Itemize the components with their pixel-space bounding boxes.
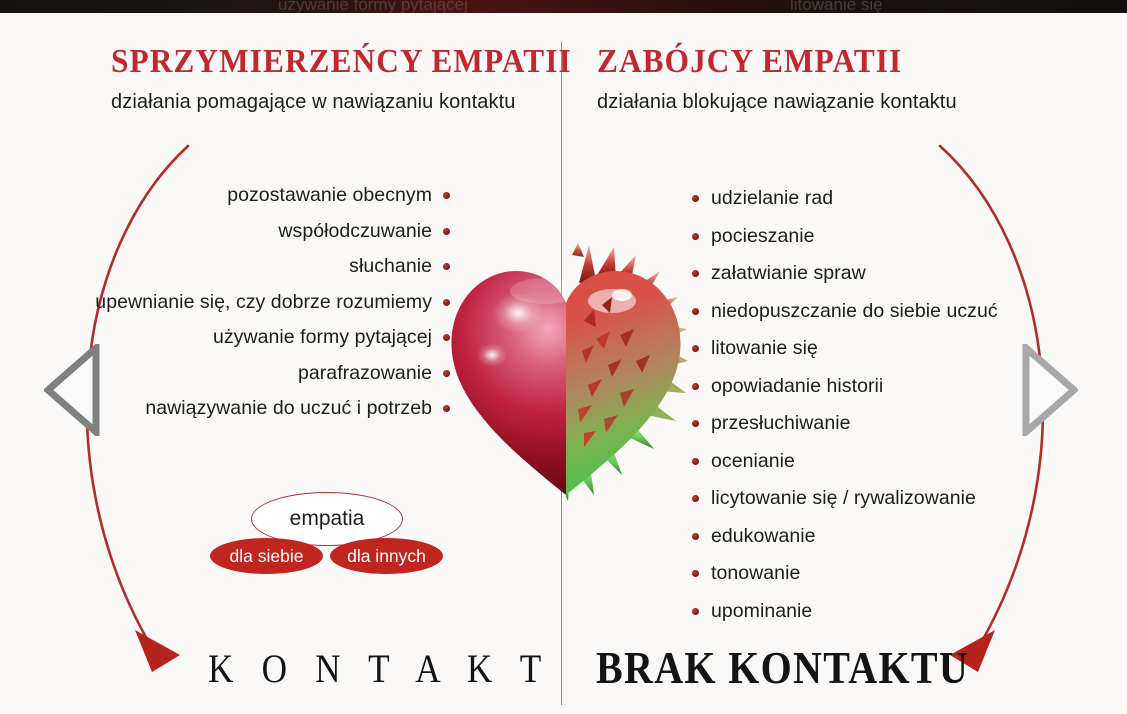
ghost-text-right: litowanie się	[790, 0, 883, 13]
bullet-icon	[443, 334, 450, 341]
bullet-icon	[692, 495, 699, 502]
list-item-label: przesłuchiwanie	[711, 412, 851, 435]
right-outcome-label: BRAK KONTAKTU	[596, 641, 969, 694]
split-heart-graphic	[444, 243, 688, 505]
list-item-label: licytowanie się / rywalizowanie	[711, 487, 976, 510]
list-item: tonowanie	[692, 555, 998, 593]
bullet-icon	[692, 308, 699, 315]
bullet-icon	[692, 233, 699, 240]
list-item: edukowanie	[692, 518, 998, 556]
empathy-killers-list: udzielanie rad pocieszanie załatwianie s…	[692, 180, 998, 630]
right-column-header: ZABÓJCY EMPATII działania blokujące nawi…	[597, 44, 957, 114]
bullet-icon	[692, 270, 699, 277]
bullet-icon	[692, 195, 699, 202]
list-item: załatwianie spraw	[692, 255, 998, 293]
list-item-label: tonowanie	[711, 562, 800, 585]
previous-slide-button[interactable]	[44, 344, 100, 436]
list-item-label: załatwianie spraw	[711, 262, 866, 285]
list-item: opowiadanie historii	[692, 368, 998, 406]
list-item: ocenianie	[692, 443, 998, 481]
list-item: udzielanie rad	[692, 180, 998, 218]
left-outcome-label: K O N T A K T	[208, 645, 551, 692]
list-item-label: upewnianie się, czy dobrze rozumiemy	[95, 291, 432, 314]
bullet-icon	[692, 458, 699, 465]
left-column-title: SPRZYMIERZEŃCY EMPATII	[111, 44, 572, 80]
list-item: upominanie	[692, 593, 998, 631]
left-flow-arrowhead	[135, 630, 180, 672]
list-item-label: ocenianie	[711, 450, 795, 473]
list-item-label: edukowanie	[711, 525, 816, 548]
list-item-label: niedopuszczanie do siebie uczuć	[711, 300, 998, 323]
list-item-label: pocieszanie	[711, 225, 815, 248]
bullet-icon	[443, 192, 450, 199]
bullet-icon	[692, 533, 699, 540]
list-item-label: współodczuwanie	[278, 220, 432, 243]
list-item-label: udzielanie rad	[711, 187, 833, 210]
left-column-header: SPRZYMIERZEŃCY EMPATII działania pomagaj…	[111, 44, 612, 114]
previous-slide-ghost-text: używanie formy pytającej litowanie się	[0, 0, 1127, 13]
list-item: przesłuchiwanie	[692, 405, 998, 443]
list-item: litowanie się	[692, 330, 998, 368]
list-item: niedopuszczanie do siebie uczuć	[692, 293, 998, 331]
bullet-icon	[443, 405, 450, 412]
list-item-label: używanie formy pytającej	[213, 326, 432, 349]
empathy-branch-self: dla siebie	[210, 538, 323, 574]
list-item: słuchanie	[0, 249, 450, 285]
list-item: pozostawanie obecnym	[0, 178, 450, 214]
empathy-branch-others: dla innych	[330, 538, 443, 574]
list-item-label: pozostawanie obecnym	[227, 184, 432, 207]
ghost-text-left: używanie formy pytającej	[278, 0, 468, 13]
empathy-main-label: empatia	[290, 507, 365, 531]
empathy-diagram: empatia dla siebie dla innych	[205, 492, 460, 582]
next-slide-button[interactable]	[1022, 344, 1078, 436]
slide-canvas: używanie formy pytającej litowanie się S…	[0, 0, 1127, 714]
list-item-label: opowiadanie historii	[711, 375, 883, 398]
list-item-label: litowanie się	[711, 337, 818, 360]
right-column-subtitle: działania blokujące nawiązanie kontaktu	[597, 91, 957, 114]
list-item: współodczuwanie	[0, 214, 450, 250]
bullet-icon	[692, 383, 699, 390]
bullet-icon	[443, 263, 450, 270]
list-item: pocieszanie	[692, 218, 998, 256]
bullet-icon	[443, 299, 450, 306]
list-item-label: nawiązywanie do uczuć i potrzeb	[145, 397, 432, 420]
bullet-icon	[443, 228, 450, 235]
list-item-label: upominanie	[711, 600, 812, 623]
list-item-label: parafrazowanie	[298, 362, 432, 385]
list-item: upewnianie się, czy dobrze rozumiemy	[0, 285, 450, 321]
right-column-title: ZABÓJCY EMPATII	[597, 44, 928, 80]
bullet-icon	[692, 420, 699, 427]
bullet-icon	[443, 370, 450, 377]
left-column-subtitle: działania pomagające w nawiązaniu kontak…	[111, 91, 612, 114]
list-item: licytowanie się / rywalizowanie	[692, 480, 998, 518]
bullet-icon	[692, 570, 699, 577]
bullet-icon	[692, 608, 699, 615]
bullet-icon	[692, 345, 699, 352]
list-item-label: słuchanie	[349, 255, 432, 278]
